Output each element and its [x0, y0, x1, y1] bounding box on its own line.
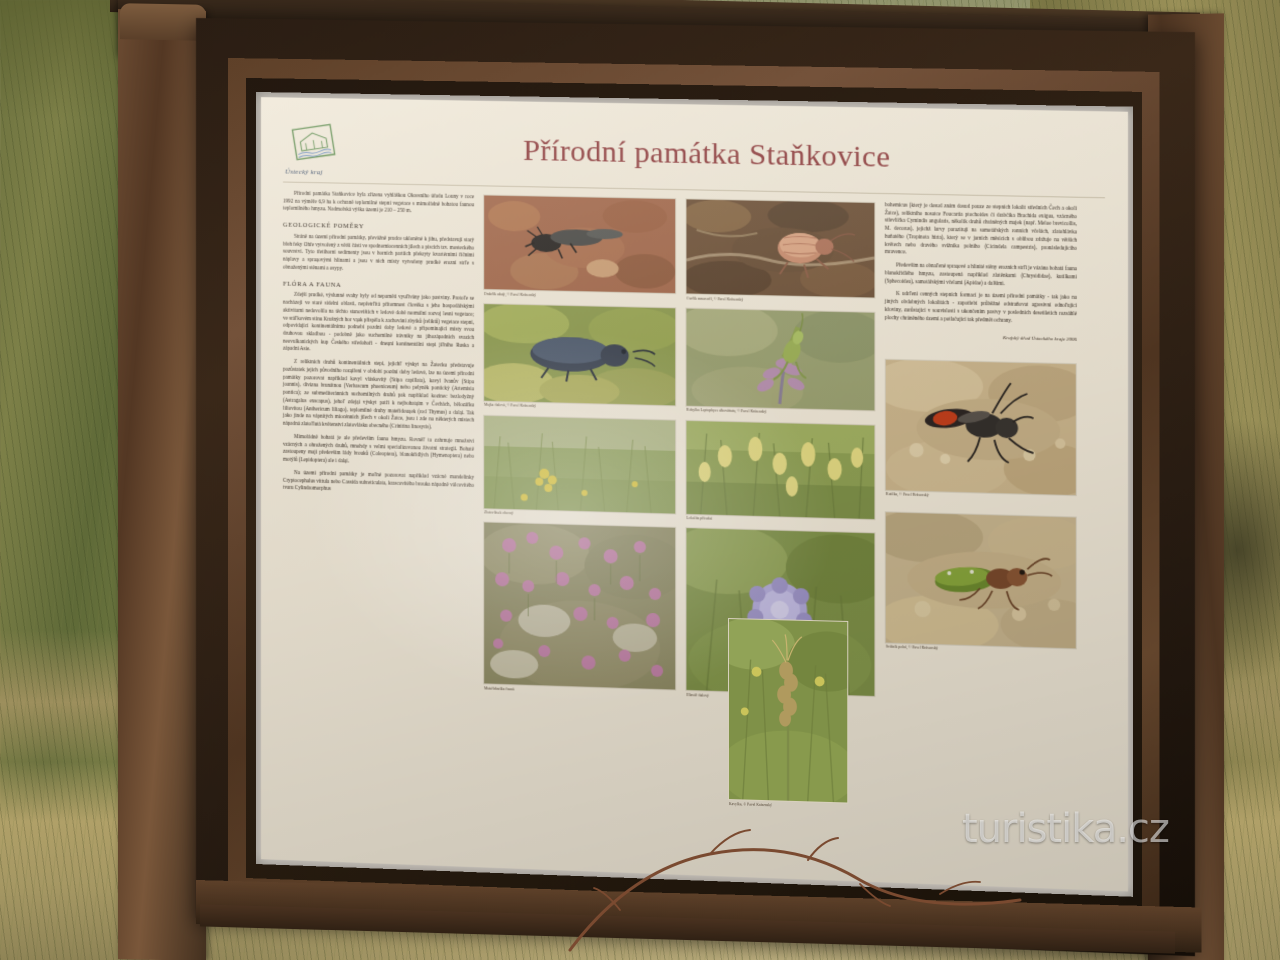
flora-paragraph-1: Zdejší prudké, výslunné svahy byly od ne…	[283, 292, 474, 358]
feather-grass-photo	[729, 619, 847, 802]
photo-cricket	[685, 198, 875, 298]
digger-wasp-photo	[886, 360, 1076, 495]
outdoor-scene: Ústecký kraj Přírodní památka Staňkovice…	[0, 0, 1280, 960]
ustecky-kraj-logo: Ústecký kraj	[283, 117, 345, 176]
right-paragraph-1: bohemicus (který je dosud znám dosud pou…	[885, 202, 1077, 261]
rove-beetle-photo	[484, 195, 675, 293]
photo-thyme	[483, 522, 676, 691]
photo-block-staphylinid: Drabčík ušatý, © Pavel Krásenský	[483, 194, 676, 300]
photo-staphylinid	[483, 194, 676, 294]
flora-paragraph-3: Mimořádně bohatá je ale především fauna …	[283, 434, 474, 470]
photo-stipa	[728, 618, 848, 804]
photo-block-tiger-beetle: Svižník polní, © Pavel Krásenský	[885, 511, 1077, 655]
photo-tiger-beetle	[885, 511, 1077, 649]
right-paragraph-2: Především na obnaľené spraąové a hlinité…	[885, 262, 1077, 290]
photo-block-oil-beetle: Majka fialová, © Pavel Krásenský	[483, 303, 676, 412]
photo-block-cricket: Cvrčík mravenčí, © Pavel Krásenský	[685, 198, 875, 304]
photo-block-thyme: Mateřídouška časná	[483, 522, 676, 697]
page-title: Přírodní památka Staňkovice	[355, 131, 1105, 179]
signature: Krajský úřad Ústeckého kraje 2006	[885, 333, 1077, 345]
photo-bush-cricket	[685, 307, 875, 411]
oil-beetle-photo	[484, 304, 675, 405]
flora-paragraph-4: Na území přírodní památky je moľné pozor…	[283, 469, 474, 497]
geology-paragraph: Stráně na území přírodní památky, převáž…	[283, 233, 474, 276]
photo-oil-beetle	[483, 303, 676, 406]
ant-cricket-photo	[686, 199, 874, 297]
poster-body: Přírodní památka Staňkovice byla zřízena…	[283, 191, 1105, 867]
photo-block-cuckoo-bee: Kutilka, © Pavel Krásenský	[885, 359, 1077, 502]
green-tiger-beetle-photo	[886, 512, 1076, 648]
intro-paragraph: Přírodní památka Staňkovice byla zřízena…	[283, 191, 474, 218]
photo-cuckoo-bee	[885, 359, 1077, 496]
flora-paragraph-2: Z reliktních druhů kontinentálních stepí…	[283, 359, 474, 434]
kiosk-post-left	[118, 9, 206, 960]
yellow-flowers-photo	[686, 420, 874, 518]
photo-block-bush-cricket: Kobylka Leptophyes albovittata, © Pavel …	[685, 307, 875, 417]
bottom-spacer	[283, 843, 474, 850]
photo-block-pulsatilla: Lokalita přírodní	[685, 419, 875, 525]
photo-column-left: Drabčík ušatý, © Pavel Krásenský	[483, 194, 676, 850]
watermark: turistika.cz	[962, 806, 1169, 852]
photo-pulsatilla	[685, 419, 875, 519]
poster-header: Ústecký kraj Přírodní památka Staňkovice	[283, 115, 1105, 193]
photo-steppe-vegetation	[483, 414, 676, 514]
information-poster: Ústecký kraj Přírodní památka Staňkovice…	[256, 92, 1133, 897]
logo-label: Ústecký kraj	[285, 168, 323, 177]
left-text-column: Přírodní památka Staňkovice byla zřízena…	[283, 191, 474, 843]
right-paragraph-3: K udrľení cenných stepních formací je na…	[885, 291, 1077, 327]
thyme-flowers-photo	[484, 523, 675, 690]
kiosk-post-left-cap	[120, 3, 206, 41]
bush-cricket-photo	[686, 308, 874, 410]
geology-heading: GEOLOGICKÉ POMĚRY	[283, 221, 474, 235]
right-text-block: bohemicus (který je dosud znám dosud pou…	[885, 202, 1077, 345]
right-column: bohemicus (který je dosud znám dosud pou…	[885, 202, 1077, 865]
steppe-vegetation-photo	[484, 415, 675, 513]
flora-fauna-heading: FLÓRA A FAUNA	[283, 279, 474, 293]
photo-block-stipa: Kavylka, © Pavel Krásenský	[728, 618, 848, 812]
photo-block-steppe-vegetation: Zlatovlásek obecný	[483, 414, 676, 520]
